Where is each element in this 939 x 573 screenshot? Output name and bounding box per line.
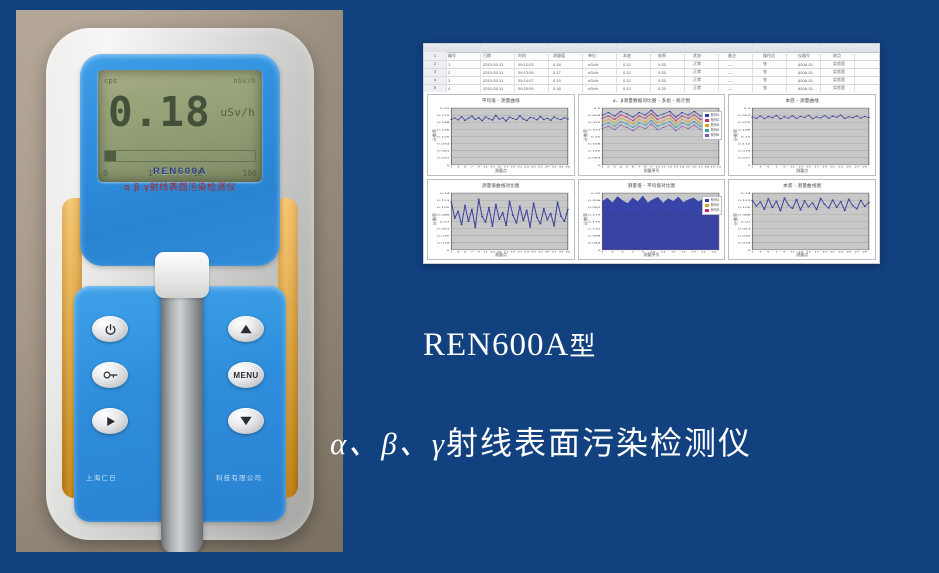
svg-text:5: 5: [464, 166, 467, 168]
svg-text:23: 23: [839, 250, 844, 252]
chart-panel: 测量值 - 平均值对比图计数率测量序号0.350.3060.2620.2190.…: [578, 179, 726, 261]
svg-text:17: 17: [504, 250, 509, 252]
svg-text:31: 31: [552, 250, 557, 252]
chart-title: 本底 - 测量曲线图: [729, 183, 875, 189]
spreadsheet-cell[interactable]: 时间: [518, 53, 551, 59]
spreadsheet-cell[interactable]: 状态: [693, 53, 726, 59]
chart-title: 测量值 - 平均值对比图: [579, 183, 725, 189]
svg-text:17: 17: [681, 250, 686, 252]
svg-text:0.25: 0.25: [590, 136, 600, 138]
chart-legend: 系列1系列2系列3: [702, 196, 723, 215]
software-screenshot-panel: 12345编号日期时间测量值单位本底效率状态备注操作员仪器号地点12010-05…: [423, 43, 880, 264]
svg-text:23: 23: [839, 166, 844, 168]
caption-model-text: REN600A: [423, 327, 569, 363]
spreadsheet-cell[interactable]: 2010-05-11: [483, 70, 516, 75]
spreadsheet-cell[interactable]: uSv/h: [588, 70, 621, 75]
device-sub-label: α β γ射线表面污染检测仪: [46, 180, 314, 193]
svg-text:0.035: 0.035: [738, 234, 750, 236]
svg-text:0.438: 0.438: [588, 114, 600, 116]
svg-text:0.105: 0.105: [437, 206, 449, 208]
spreadsheet-cell[interactable]: 编号: [448, 53, 481, 59]
spreadsheet-cell[interactable]: —: [728, 70, 761, 75]
spreadsheet-cell[interactable]: 0.12: [623, 62, 656, 67]
svg-text:8: 8: [644, 166, 647, 168]
svg-text:27: 27: [538, 250, 543, 252]
spreadsheet-cell[interactable]: uSv/h: [588, 78, 621, 83]
spreadsheet-cell[interactable]: 本底: [623, 53, 656, 59]
svg-text:23: 23: [711, 250, 716, 252]
spreadsheet-cell[interactable]: 实验室: [833, 85, 866, 91]
svg-text:0.35: 0.35: [590, 192, 600, 194]
chart-panel: 平均值 - 测量曲线计数率测量点0.250.2190.1880.1560.125…: [427, 94, 575, 176]
svg-text:0.031: 0.031: [437, 157, 449, 159]
chart-panel: 测量值曲线对比图计数率测量点0.140.1230.1050.0880.070.0…: [427, 179, 575, 261]
svg-text:13: 13: [673, 166, 678, 168]
up-button[interactable]: [228, 316, 264, 342]
chart-legend-swatch: [705, 114, 709, 117]
spreadsheet-cell[interactable]: 3: [448, 78, 481, 83]
svg-text:3: 3: [759, 166, 762, 168]
chart-panel: 本底 - 测量曲线图计数率测量点0.140.1230.1050.0880.070…: [728, 179, 876, 261]
svg-text:35: 35: [565, 166, 570, 168]
svg-text:0.053: 0.053: [437, 227, 449, 229]
device-photo: cps nSv/h 0.18 uSv/h 0 1 10 100: [16, 10, 343, 552]
svg-text:7: 7: [638, 166, 641, 168]
spreadsheet-cell[interactable]: 600A-01: [798, 78, 831, 83]
chart-legend-label: 系列3: [711, 208, 720, 213]
lcd-bargraph: [104, 150, 256, 162]
spreadsheet-cell[interactable]: —: [728, 78, 761, 83]
svg-text:25: 25: [531, 250, 536, 252]
svg-text:7: 7: [776, 166, 779, 168]
spreadsheet-cell[interactable]: 600A-01: [798, 70, 831, 75]
svg-text:1: 1: [751, 166, 754, 168]
svg-text:9: 9: [478, 250, 481, 252]
spreadsheet-cell[interactable]: 测量值: [553, 53, 586, 59]
svg-text:1: 1: [751, 250, 754, 252]
svg-text:0.094: 0.094: [437, 143, 449, 145]
spreadsheet-cell[interactable]: 4: [448, 86, 481, 91]
svg-text:1: 1: [601, 166, 604, 168]
chart-plot-area: 0.30.2630.2250.1880.150.1120.0750.037013…: [729, 106, 875, 175]
lcd-status-right: nSv/h: [233, 77, 256, 85]
spreadsheet-cell[interactable]: 备注: [728, 53, 761, 59]
svg-text:16: 16: [692, 166, 697, 168]
svg-text:19: 19: [710, 166, 715, 168]
svg-text:19: 19: [511, 250, 516, 252]
svg-text:17: 17: [815, 250, 820, 252]
svg-text:0.5: 0.5: [593, 107, 600, 109]
svg-text:19: 19: [511, 166, 516, 168]
spreadsheet-cell[interactable]: —: [728, 62, 761, 67]
down-button[interactable]: [228, 408, 264, 434]
spreadsheet-cell[interactable]: 0.25: [658, 70, 691, 75]
svg-text:0.131: 0.131: [588, 227, 600, 229]
svg-text:0.07: 0.07: [440, 220, 450, 222]
svg-text:0.263: 0.263: [738, 114, 750, 116]
svg-text:0.313: 0.313: [588, 128, 600, 130]
chart-plot-area: 0.140.1230.1050.0880.070.0530.0350.01801…: [729, 191, 875, 260]
svg-text:29: 29: [863, 166, 868, 168]
svg-text:7: 7: [471, 250, 474, 252]
svg-text:0.105: 0.105: [738, 206, 750, 208]
svg-text:0.125: 0.125: [588, 150, 600, 152]
lcd-status-bar: cps nSv/h: [104, 74, 256, 87]
svg-text:10: 10: [655, 166, 660, 168]
svg-text:23: 23: [524, 166, 529, 168]
svg-text:9: 9: [784, 250, 787, 252]
spreadsheet-cell[interactable]: 张: [763, 69, 796, 75]
svg-text:0.25: 0.25: [440, 107, 450, 109]
svg-text:0.123: 0.123: [738, 199, 750, 201]
spreadsheet-cell[interactable]: 0.12: [623, 86, 656, 91]
play-button[interactable]: [92, 408, 128, 434]
spreadsheet-cell[interactable]: uSv/h: [588, 62, 621, 67]
spreadsheet-row[interactable]: 22010-05-1109:13:050.17uSv/h0.120.25正常—张…: [448, 68, 877, 76]
svg-text:9: 9: [478, 166, 481, 168]
svg-text:15: 15: [497, 166, 502, 168]
svg-text:13: 13: [490, 166, 495, 168]
spreadsheet-cell[interactable]: 张: [763, 61, 796, 67]
svg-text:0.14: 0.14: [440, 192, 450, 194]
svg-text:3: 3: [457, 250, 460, 252]
spreadsheet-cell[interactable]: 正常: [693, 61, 726, 67]
spreadsheet-cell[interactable]: 实验室: [833, 61, 866, 67]
chart-legend-swatch: [705, 204, 709, 207]
spreadsheet-cell[interactable]: 0.25: [658, 86, 691, 91]
svg-text:0.035: 0.035: [437, 234, 449, 236]
svg-text:33: 33: [559, 250, 564, 252]
spreadsheet-cell[interactable]: 0.18: [553, 86, 586, 91]
spreadsheet-cell[interactable]: 2010-05-11: [483, 86, 516, 91]
spreadsheet-cell[interactable]: 正常: [693, 69, 726, 75]
spreadsheet-cell[interactable]: 0.25: [658, 62, 691, 67]
spreadsheet-cell[interactable]: 600A-01: [798, 62, 831, 67]
svg-text:15: 15: [806, 166, 811, 168]
svg-text:0.123: 0.123: [437, 199, 449, 201]
svg-text:0.375: 0.375: [588, 121, 600, 123]
spreadsheet-cell[interactable]: 600A-01: [798, 86, 831, 91]
svg-text:0.306: 0.306: [588, 199, 600, 201]
svg-text:15: 15: [685, 166, 690, 168]
search-button[interactable]: [92, 362, 128, 388]
svg-text:29: 29: [863, 250, 868, 252]
slide-background: cps nSv/h 0.18 uSv/h 0 1 10 100: [0, 0, 939, 573]
svg-text:5: 5: [621, 250, 624, 252]
svg-text:21: 21: [831, 250, 836, 252]
triangle-up-icon: [239, 323, 253, 335]
caption-alpha: α、: [330, 426, 381, 461]
svg-text:0.063: 0.063: [588, 157, 600, 159]
svg-text:18: 18: [704, 166, 709, 168]
svg-text:29: 29: [545, 166, 550, 168]
lcd-status-left: cps: [104, 77, 118, 85]
spreadsheet-cell[interactable]: 效率: [658, 53, 691, 59]
caption-gamma: γ: [432, 426, 446, 461]
svg-text:0.088: 0.088: [588, 234, 600, 236]
svg-text:3: 3: [613, 166, 616, 168]
chart-legend-swatch: [705, 129, 709, 132]
svg-text:5: 5: [768, 166, 771, 168]
svg-text:0.037: 0.037: [738, 157, 750, 159]
chart-legend-item: 系列3: [705, 208, 720, 213]
svg-text:0.125: 0.125: [437, 136, 449, 138]
spreadsheet-cell[interactable]: 0.19: [553, 78, 586, 83]
svg-text:9: 9: [641, 250, 644, 252]
svg-text:21: 21: [701, 250, 706, 252]
svg-text:0.156: 0.156: [437, 128, 449, 130]
svg-text:14: 14: [679, 166, 684, 168]
svg-text:0.3: 0.3: [744, 107, 751, 109]
spreadsheet-cell[interactable]: 张: [763, 77, 796, 83]
spreadsheet-row[interactable]: 42010-05-1109:15:090.18uSv/h0.120.25正常—张…: [448, 84, 877, 92]
spreadsheet-cell[interactable]: 1: [448, 62, 481, 67]
chart-panel: α、β测量数据对比图 - 多组 - 统计图计数率测量序号0.50.4380.37…: [578, 94, 726, 176]
svg-text:0.188: 0.188: [588, 143, 600, 145]
power-icon: [104, 323, 117, 336]
svg-text:0.044: 0.044: [588, 241, 600, 243]
svg-text:21: 21: [831, 166, 836, 168]
svg-text:27: 27: [855, 166, 860, 168]
spreadsheet-row[interactable]: 编号日期时间测量值单位本底效率状态备注操作员仪器号地点: [448, 52, 877, 60]
chart-legend-swatch: [705, 199, 709, 202]
svg-text:0.088: 0.088: [738, 213, 750, 215]
spreadsheet-cell[interactable]: 09:14:07: [518, 78, 551, 83]
spreadsheet-cell[interactable]: 0.25: [658, 78, 691, 83]
caption-product-line: α、β、γ射线表面污染检测仪: [330, 418, 939, 464]
svg-text:5: 5: [625, 166, 628, 168]
spreadsheet-cell[interactable]: 实验室: [833, 77, 866, 83]
chart-legend-swatch: [705, 134, 709, 137]
lcd-bargraph-fill: [105, 151, 116, 161]
svg-text:25: 25: [847, 166, 852, 168]
svg-text:19: 19: [691, 250, 696, 252]
chart-title: 测量值曲线对比图: [428, 183, 574, 189]
spreadsheet-cell[interactable]: 09:12:03: [518, 62, 551, 67]
svg-text:7: 7: [776, 250, 779, 252]
svg-text:0.225: 0.225: [738, 121, 750, 123]
svg-text:31: 31: [552, 166, 557, 168]
svg-text:0.15: 0.15: [741, 136, 751, 138]
svg-text:13: 13: [798, 166, 803, 168]
menu-button[interactable]: MENU: [228, 362, 264, 388]
svg-text:0.188: 0.188: [437, 121, 449, 123]
svg-text:3: 3: [759, 250, 762, 252]
svg-text:7: 7: [631, 250, 634, 252]
device-body: cps nSv/h 0.18 uSv/h 0 1 10 100: [46, 28, 314, 540]
svg-text:0.07: 0.07: [741, 220, 751, 222]
svg-text:0.175: 0.175: [588, 220, 600, 222]
device-footer-right: 科技有限公司: [216, 472, 262, 482]
svg-text:15: 15: [671, 250, 676, 252]
device-model-plate: REN600A α β γ射线表面污染检测仪: [46, 166, 314, 193]
spreadsheet-cell[interactable]: 09:13:05: [518, 70, 551, 75]
chart-grid: 平均值 - 测量曲线计数率测量点0.250.2190.1880.1560.125…: [427, 94, 876, 260]
svg-text:9: 9: [784, 166, 787, 168]
svg-text:9: 9: [650, 166, 653, 168]
svg-text:0.018: 0.018: [738, 241, 750, 243]
svg-text:35: 35: [565, 250, 570, 252]
svg-text:17: 17: [504, 166, 509, 168]
svg-text:1: 1: [601, 250, 604, 252]
svg-text:0.219: 0.219: [588, 213, 600, 215]
spreadsheet-cell[interactable]: 0.17: [553, 70, 586, 75]
spreadsheet-cell[interactable]: uSv/h: [588, 86, 621, 91]
svg-text:19: 19: [823, 166, 828, 168]
svg-text:17: 17: [815, 166, 820, 168]
spreadsheet-cell[interactable]: 0.12: [623, 78, 656, 83]
spreadsheet-cell[interactable]: 09:15:09: [518, 86, 551, 91]
play-icon: [104, 415, 117, 428]
caption-beta: β、: [381, 426, 431, 461]
svg-text:11: 11: [790, 250, 795, 252]
svg-text:15: 15: [497, 250, 502, 252]
chart-plot-area: 0.140.1230.1050.0880.070.0530.0350.01801…: [428, 191, 574, 260]
spreadsheet-cell[interactable]: 0.18: [553, 62, 586, 67]
svg-text:20: 20: [716, 166, 721, 168]
svg-text:11: 11: [483, 250, 488, 252]
chart-title: 平均值 - 测量曲线: [428, 98, 574, 104]
svg-text:1: 1: [450, 166, 453, 168]
svg-text:25: 25: [531, 166, 536, 168]
svg-text:7: 7: [471, 166, 474, 168]
svg-text:0.063: 0.063: [437, 150, 449, 152]
svg-text:21: 21: [517, 250, 522, 252]
svg-text:15: 15: [806, 250, 811, 252]
chart-legend-swatch: [705, 119, 709, 122]
caption-model-line: REN600A型: [423, 326, 933, 364]
spreadsheet-cell[interactable]: 0.12: [623, 70, 656, 75]
chart-panel: 本底 - 测量曲线计数率测量点0.30.2630.2250.1880.150.1…: [728, 94, 876, 176]
lcd-reading-unit: uSv/h: [220, 106, 255, 119]
chart-legend-item: 系列5: [705, 133, 720, 138]
chart-legend: 系列1系列2系列3系列4系列5: [702, 111, 723, 140]
svg-text:11: 11: [483, 166, 488, 168]
svg-text:0.075: 0.075: [738, 150, 750, 152]
svg-text:19: 19: [823, 250, 828, 252]
key-icon: [103, 369, 118, 381]
svg-text:5: 5: [464, 250, 467, 252]
spreadsheet-cell[interactable]: —: [728, 86, 761, 91]
spreadsheet-cell[interactable]: 单位: [588, 53, 621, 59]
svg-text:0.112: 0.112: [738, 143, 750, 145]
svg-text:17: 17: [698, 166, 703, 168]
device-handle-cap: [155, 252, 209, 298]
device-footer-left: 上海仁日: [86, 472, 117, 482]
svg-text:13: 13: [660, 250, 665, 252]
svg-text:0.188: 0.188: [738, 128, 750, 130]
triangle-down-icon: [239, 415, 253, 427]
svg-text:27: 27: [855, 250, 860, 252]
chart-title: α、β测量数据对比图 - 多组 - 统计图: [579, 98, 725, 104]
svg-text:0.262: 0.262: [588, 206, 600, 208]
svg-text:21: 21: [517, 166, 522, 168]
spreadsheet-cell[interactable]: 正常: [693, 77, 726, 83]
svg-text:11: 11: [790, 166, 795, 168]
svg-text:29: 29: [545, 250, 550, 252]
svg-text:27: 27: [538, 166, 543, 168]
menu-button-label: MENU: [233, 371, 258, 380]
spreadsheet-cell[interactable]: 地点: [833, 53, 866, 59]
svg-text:0.088: 0.088: [437, 213, 449, 215]
svg-text:12: 12: [667, 166, 672, 168]
chart-legend-swatch: [705, 124, 709, 127]
device-handle: [161, 264, 203, 552]
caption-model-suffix: 型: [569, 332, 596, 362]
svg-text:4: 4: [619, 166, 622, 168]
svg-text:13: 13: [490, 250, 495, 252]
caption-product-rest: 射线表面污染检测仪: [446, 424, 752, 462]
spreadsheet-cell[interactable]: 2010-05-11: [483, 62, 516, 67]
spreadsheet-cell[interactable]: 日期: [483, 53, 516, 59]
spreadsheet-row[interactable]: 32010-05-1109:14:070.19uSv/h0.120.25正常—张…: [448, 76, 877, 84]
svg-text:2: 2: [607, 166, 610, 168]
svg-text:11: 11: [661, 166, 666, 168]
svg-text:0.018: 0.018: [437, 241, 449, 243]
spreadsheet-cell[interactable]: 正常: [693, 85, 726, 91]
svg-text:13: 13: [798, 250, 803, 252]
svg-text:25: 25: [847, 250, 852, 252]
chart-legend-swatch: [705, 209, 709, 212]
spreadsheet-cell[interactable]: 操作员: [763, 53, 796, 59]
device-model-label: REN600A: [46, 166, 314, 177]
svg-text:0.219: 0.219: [437, 114, 449, 116]
lcd-reading-value: 0.18: [108, 92, 211, 133]
svg-text:33: 33: [559, 166, 564, 168]
spreadsheet-row[interactable]: 12010-05-1109:12:030.18uSv/h0.120.25正常—张…: [448, 60, 877, 68]
svg-text:1: 1: [450, 250, 453, 252]
svg-text:3: 3: [611, 250, 614, 252]
svg-text:6: 6: [631, 166, 634, 168]
svg-text:23: 23: [524, 250, 529, 252]
svg-text:0.053: 0.053: [738, 227, 750, 229]
data-spreadsheet[interactable]: 12345编号日期时间测量值单位本底效率状态备注操作员仪器号地点12010-05…: [424, 44, 879, 92]
svg-text:0.14: 0.14: [741, 192, 751, 194]
spreadsheet-cell[interactable]: 2010-05-11: [483, 78, 516, 83]
spreadsheet-cell[interactable]: 张: [763, 85, 796, 91]
spreadsheet-cell[interactable]: 2: [448, 70, 481, 75]
chart-plot-area: 0.250.2190.1880.1560.1250.0940.0630.0310…: [428, 106, 574, 175]
svg-text:3: 3: [457, 166, 460, 168]
spreadsheet-cell[interactable]: 仪器号: [798, 53, 831, 59]
svg-text:11: 11: [650, 250, 655, 252]
power-button[interactable]: [92, 316, 128, 342]
spreadsheet-cell[interactable]: 实验室: [833, 69, 866, 75]
chart-legend-label: 系列5: [711, 133, 720, 138]
chart-title: 本底 - 测量曲线: [729, 98, 875, 104]
svg-text:5: 5: [768, 250, 771, 252]
device-upper-faceplate: cps nSv/h 0.18 uSv/h 0 1 10 100: [80, 54, 280, 266]
